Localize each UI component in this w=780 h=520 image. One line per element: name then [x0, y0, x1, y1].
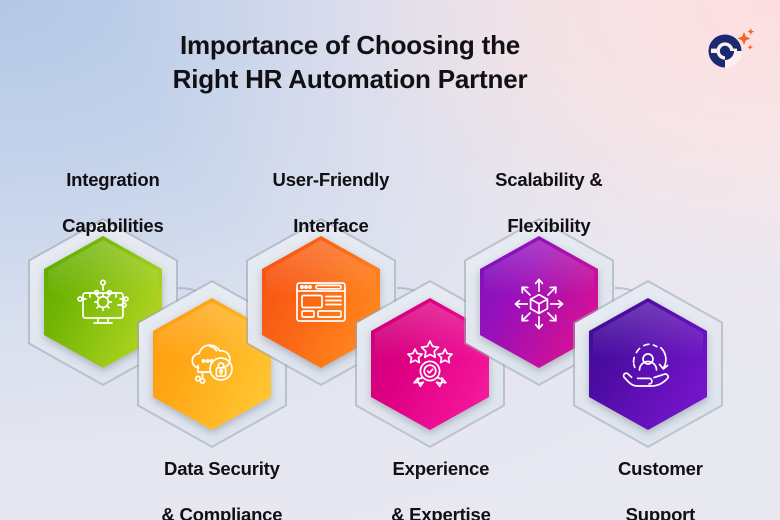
label-line-1: Integration: [66, 169, 159, 190]
label-line-1: Data Security: [164, 458, 280, 479]
label-line-1: User-Friendly: [273, 169, 390, 190]
cube-expand-arrows-icon: [510, 273, 568, 331]
label-line-2: & Expertise: [391, 504, 491, 520]
label-line-1: Scalability &: [495, 169, 602, 190]
infographic-canvas: Importance of Choosing the Right HR Auto…: [0, 0, 780, 520]
hex-label-scalability-flexibility: Scalability & Flexibility: [449, 146, 629, 261]
label-line-2: Support: [626, 504, 696, 520]
label-line-1: Customer: [618, 458, 703, 479]
label-line-1: Experience: [393, 458, 490, 479]
hex-label-user-friendly-interface: User-Friendly Interface: [231, 146, 411, 261]
dashboard-window-icon: [291, 276, 351, 328]
monitor-gear-network-icon: [72, 273, 134, 331]
cloud-lock-icon: [182, 336, 242, 392]
hand-user-support-icon: [619, 337, 677, 391]
label-line-2: Capabilities: [62, 215, 163, 236]
hex-label-customer-support: Customer Support: [563, 435, 738, 520]
hex-node-customer-support[interactable]: [573, 280, 723, 448]
label-line-2: & Compliance: [161, 504, 282, 520]
hex-tile-wrap: [589, 298, 707, 430]
label-line-2: Interface: [293, 215, 368, 236]
hex-label-data-security-compliance: Data Security & Compliance: [112, 435, 312, 520]
hex-label-experience-expertise: Experience & Expertise: [336, 435, 526, 520]
award-badge-stars-icon: [401, 337, 459, 391]
label-line-2: Flexibility: [507, 215, 590, 236]
hex-label-integration-capabilities: Integration Capabilities: [13, 146, 193, 261]
